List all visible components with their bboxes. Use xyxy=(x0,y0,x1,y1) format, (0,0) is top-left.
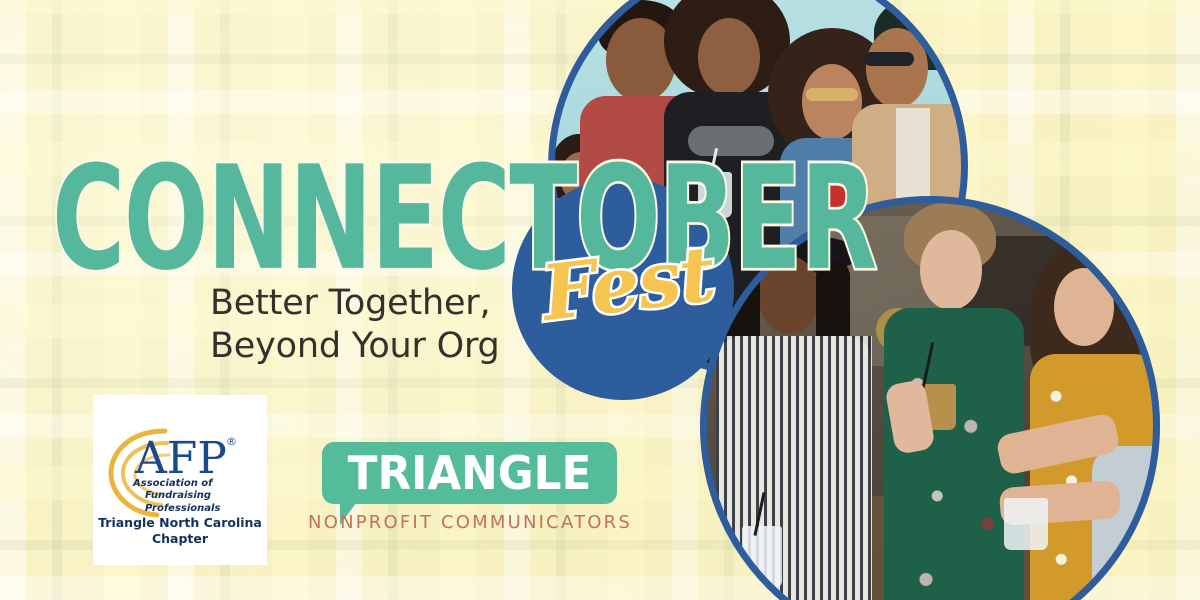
afp-chapter-line-1: Triangle North Carolina xyxy=(93,515,267,531)
afp-fullname-line-1: Association of xyxy=(133,478,213,491)
afp-chapter-name: Triangle North Carolina Chapter xyxy=(93,515,267,547)
afp-logo-card: AFP ® Association of Fundraising Profess… xyxy=(93,395,267,565)
event-banner: CONNECTOBER Fest Better Together, Beyond… xyxy=(0,0,1200,600)
afp-chapter-line-2: Chapter xyxy=(93,531,267,547)
tagline-line-1: Better Together, xyxy=(210,282,500,325)
fest-script-word: Fest xyxy=(524,234,732,334)
photo-sunglasses-icon xyxy=(806,88,858,101)
photo-stripe-pattern xyxy=(716,336,872,600)
afp-fullname-line-2: Fundraising Professionals xyxy=(145,490,267,515)
triangle-logo-tagline: NONPROFIT COMMUNICATORS xyxy=(300,512,640,533)
registered-trademark-icon: ® xyxy=(226,435,237,448)
photo-sunglasses-icon-2 xyxy=(864,52,914,66)
page-title: CONNECTOBER xyxy=(52,148,876,291)
triangle-logo-name: TRIANGLE xyxy=(329,450,609,496)
tagline-line-2: Beyond Your Org xyxy=(210,325,500,368)
event-tagline: Better Together, Beyond Your Org xyxy=(210,282,500,367)
afp-acronym: AFP xyxy=(135,433,227,484)
photo-patterned-shirt xyxy=(896,108,930,198)
